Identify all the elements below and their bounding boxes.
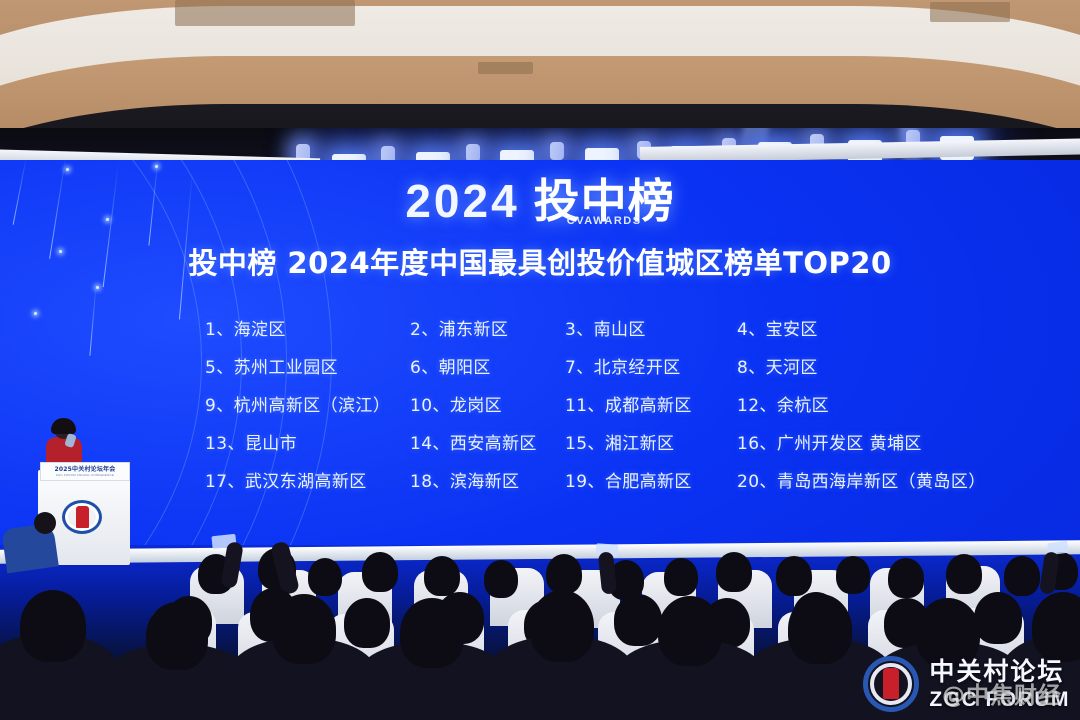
ranking-item: 11、成都高新区 bbox=[565, 391, 737, 416]
logo-mark bbox=[883, 668, 899, 699]
audience-head bbox=[362, 552, 398, 592]
audience-head bbox=[836, 556, 870, 594]
ranking-row: 17、武汉东湖高新区 18、滨海新区 19、合肥高新区 20、青岛西海岸新区（黄… bbox=[205, 467, 1015, 492]
zgc-logo-icon bbox=[863, 656, 919, 712]
audience-head bbox=[530, 590, 594, 662]
ranking-item: 6、朝阳区 bbox=[410, 353, 565, 378]
audience-head bbox=[484, 560, 518, 598]
podium-sign: 2025中关村论坛年会 ZGC FORUM ANNUAL CONFERENCE bbox=[40, 462, 130, 481]
audience-head bbox=[424, 556, 460, 596]
logo-year: 2024 bbox=[405, 178, 519, 224]
podium-sign-cn: 2025中关村论坛年会 bbox=[55, 467, 116, 473]
ranking-item: 1、海淀区 bbox=[205, 315, 410, 340]
audience-head bbox=[776, 556, 812, 596]
audience-head bbox=[974, 592, 1022, 644]
presentation-slide: 2024 投中榜 CVAWARDS 投中榜 2024年度中国最具创投价值城区榜单… bbox=[0, 160, 1080, 560]
audience-head bbox=[546, 554, 582, 594]
ranking-item: 4、宝安区 bbox=[737, 315, 818, 340]
ranking-item: 3、南山区 bbox=[565, 315, 737, 340]
ranking-item: 16、广州开发区 黄埔区 bbox=[737, 429, 922, 454]
audience-head bbox=[146, 602, 208, 670]
audience-head bbox=[716, 552, 752, 592]
audience-head bbox=[664, 558, 698, 596]
audience-head bbox=[946, 554, 982, 594]
ranking-item: 15、湘江新区 bbox=[565, 429, 737, 454]
ceiling-vent bbox=[175, 0, 355, 26]
ranking-item: 8、天河区 bbox=[737, 353, 818, 378]
ranking-item: 14、西安高新区 bbox=[410, 429, 565, 454]
slide-title: 投中榜 2024年度中国最具创投价值城区榜单TOP20 bbox=[0, 240, 1080, 282]
audience-head bbox=[272, 594, 336, 664]
audience-head bbox=[20, 590, 86, 662]
podium-sign-en: ZGC FORUM ANNUAL CONFERENCE bbox=[56, 474, 114, 477]
logo-mark bbox=[76, 506, 89, 528]
audience-head bbox=[614, 594, 662, 646]
ranking-list: 1、海淀区 2、浦东新区 3、南山区 4、宝安区 5、苏州工业园区 6、朝阳区 … bbox=[205, 315, 1015, 505]
ranking-item: 9、杭州高新区（滨江） bbox=[205, 391, 410, 416]
ranking-row: 9、杭州高新区（滨江） 10、龙岗区 11、成都高新区 12、余杭区 bbox=[205, 391, 1015, 416]
ranking-item: 19、合肥高新区 bbox=[565, 467, 737, 492]
ranking-row: 1、海淀区 2、浦东新区 3、南山区 4、宝安区 bbox=[205, 315, 1015, 340]
audience-arm bbox=[598, 551, 617, 594]
ranking-item: 12、余杭区 bbox=[737, 391, 829, 416]
audience-head bbox=[658, 596, 722, 666]
ranking-item: 7、北京经开区 bbox=[565, 353, 737, 378]
audience-head bbox=[1032, 592, 1080, 662]
led-screen-frame: 2024 投中榜 CVAWARDS 投中榜 2024年度中国最具创投价值城区榜单… bbox=[0, 150, 1080, 570]
conference-stage-photo: 2024 投中榜 CVAWARDS 投中榜 2024年度中国最具创投价值城区榜单… bbox=[0, 0, 1080, 720]
ceiling-vent bbox=[930, 2, 1010, 22]
ranking-item: 5、苏州工业园区 bbox=[205, 353, 410, 378]
audience-head bbox=[1004, 556, 1040, 596]
ranking-item: 13、昆山市 bbox=[205, 429, 410, 454]
ranking-item: 20、青岛西海岸新区（黄岛区） bbox=[737, 467, 986, 492]
audience-head bbox=[400, 598, 464, 668]
ceiling-vent bbox=[478, 62, 533, 74]
ranking-row: 5、苏州工业园区 6、朝阳区 7、北京经开区 8、天河区 bbox=[205, 353, 1015, 378]
ranking-item: 2、浦东新区 bbox=[410, 315, 565, 340]
logo-brand-en: CVAWARDS bbox=[534, 215, 675, 227]
led-screen: 2024 投中榜 CVAWARDS 投中榜 2024年度中国最具创投价值城区榜单… bbox=[0, 160, 1080, 560]
speaker-hair bbox=[51, 418, 76, 434]
ranking-item: 18、滨海新区 bbox=[410, 467, 565, 492]
overlay-watermark: @中焦财经 bbox=[942, 676, 1062, 710]
ranking-row: 13、昆山市 14、西安高新区 15、湘江新区 16、广州开发区 黄埔区 bbox=[205, 429, 1015, 454]
audience-head bbox=[788, 594, 852, 664]
audience-head bbox=[344, 598, 390, 648]
audience-head bbox=[888, 558, 924, 598]
ranking-item: 10、龙岗区 bbox=[410, 391, 565, 416]
ranking-item: 17、武汉东湖高新区 bbox=[205, 467, 410, 492]
slide-logo: 2024 投中榜 CVAWARDS bbox=[0, 178, 1080, 224]
audience-head bbox=[308, 558, 342, 596]
